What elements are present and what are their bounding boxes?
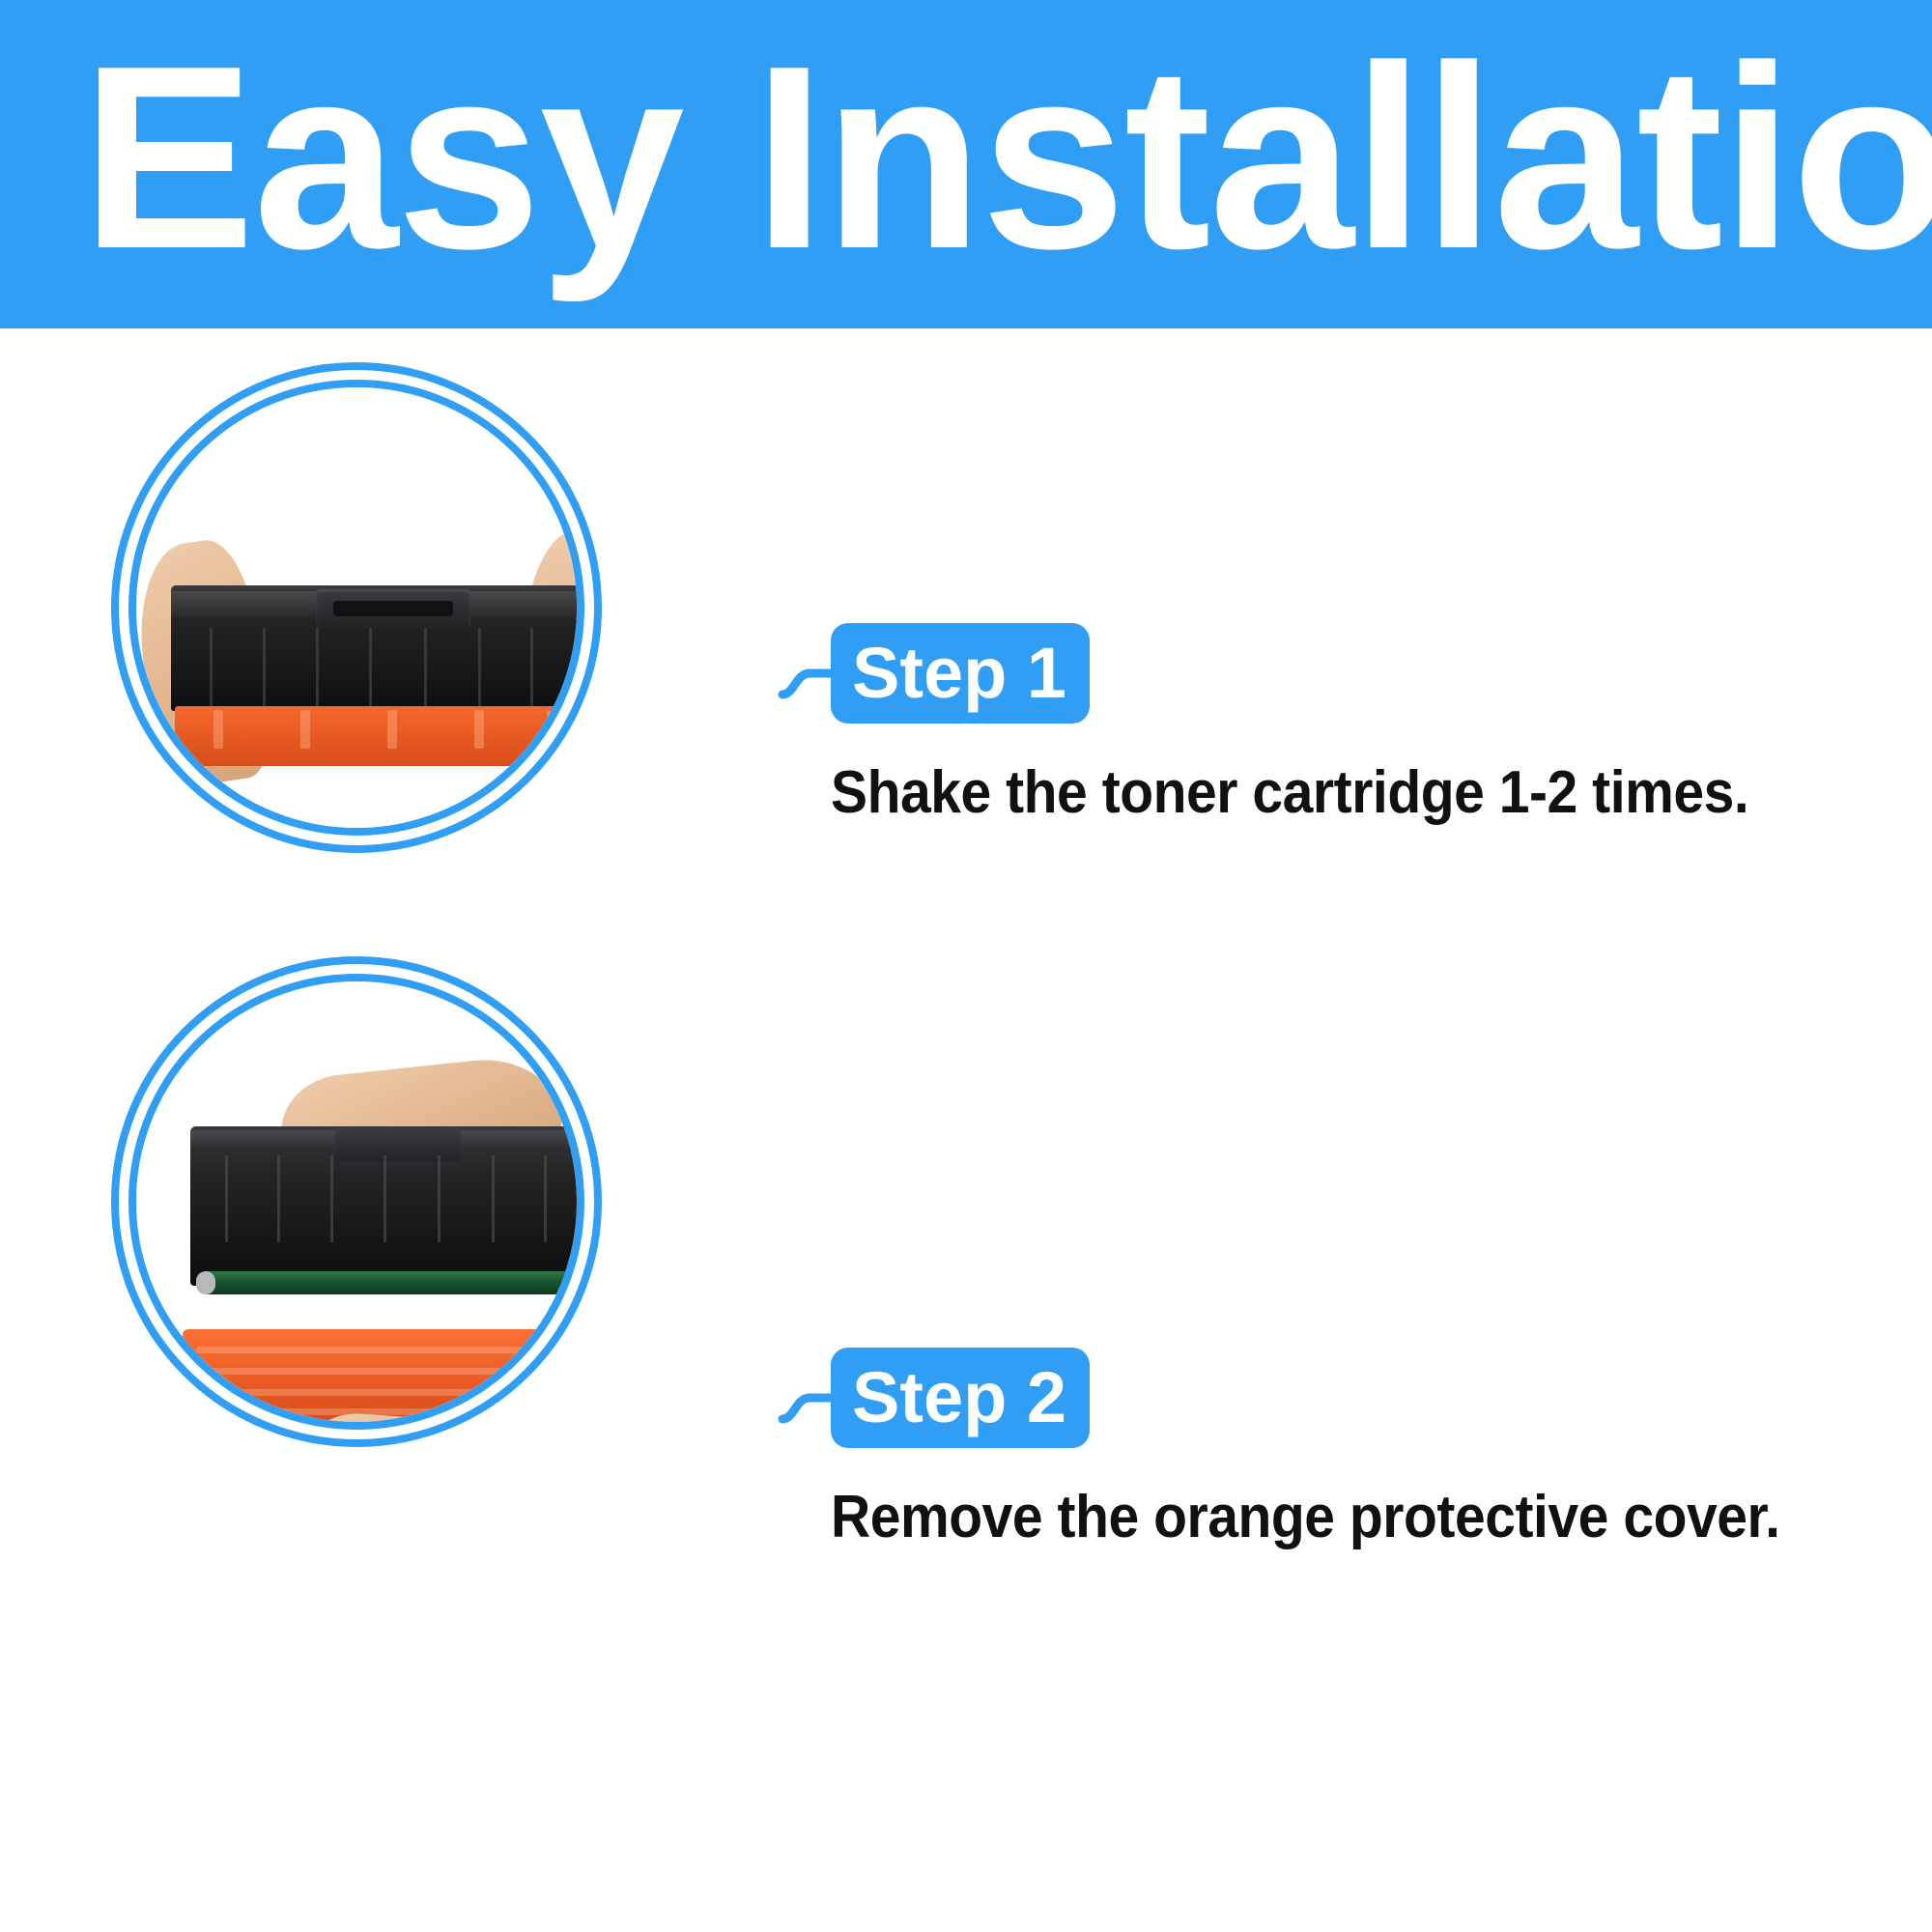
drum-end-cap-left	[196, 1271, 215, 1294]
step-2-description: Remove the orange protective cover.	[831, 1483, 1826, 1551]
step-2-photo	[136, 981, 577, 1422]
cover-groove	[196, 1347, 577, 1353]
cartridge-rib	[424, 628, 427, 711]
toner-cartridge-icon	[171, 585, 577, 711]
step-1-badge: Step 1	[831, 623, 1090, 724]
cartridge-rib	[210, 628, 213, 711]
cartridge-rib	[277, 1155, 280, 1242]
orange-protective-cover-icon	[183, 1329, 577, 1422]
drum-roller-icon	[196, 1271, 577, 1294]
step-2-badge-wrap: Step 2	[831, 1348, 1090, 1448]
cartridge-rib	[384, 1155, 386, 1242]
cartridge-rib	[330, 1155, 333, 1242]
cartridge-rib	[544, 1155, 547, 1242]
cover-groove	[196, 1368, 577, 1375]
step-block-2: Step 2 Remove the orange protective cove…	[0, 942, 1932, 1463]
step-2-badge: Step 2	[831, 1348, 1090, 1448]
cartridge-rib	[492, 1155, 495, 1242]
drum-end-cap-right	[571, 1271, 577, 1294]
cover-tab	[213, 710, 223, 749]
cover-tab	[547, 710, 556, 749]
cartridge-rib	[225, 1155, 228, 1242]
header-banner: Easy Installation	[0, 0, 1932, 328]
badge-connector-icon	[781, 650, 835, 696]
cartridge-rib	[369, 628, 372, 711]
cartridge-rib	[316, 628, 319, 711]
cover-tab	[474, 710, 484, 749]
step-1-text-column: Step 1 Shake the toner cartridge 1-2 tim…	[831, 623, 1913, 827]
cartridge-ribs	[171, 628, 577, 711]
cartridge-rib	[478, 628, 481, 711]
step-2-text-column: Step 2 Remove the orange protective cove…	[831, 1348, 1913, 1551]
cartridge-rib	[263, 628, 266, 711]
toner-cartridge-icon	[190, 1126, 577, 1286]
cover-tab	[387, 710, 397, 749]
cartridge-handle	[316, 589, 470, 628]
cover-groove	[196, 1408, 577, 1415]
step-1-badge-wrap: Step 1	[831, 623, 1090, 724]
step-2-photo-circle	[111, 956, 602, 1447]
step-1-photo-circle	[111, 362, 602, 853]
cartridge-handle-groove	[333, 601, 453, 616]
step-1-photo	[136, 387, 577, 828]
cover-tab	[300, 710, 310, 749]
step-1-description: Shake the toner cartridge 1-2 times.	[831, 758, 1826, 827]
cartridge-rib	[438, 1155, 440, 1242]
cartridge-ribs	[190, 1155, 577, 1242]
cartridge-rib	[530, 628, 533, 711]
step-block-1: Step 1 Shake the toner cartridge 1-2 tim…	[0, 348, 1932, 869]
cover-groove	[196, 1389, 577, 1396]
page-title: Easy Installation	[81, 0, 1932, 323]
orange-protective-cover-icon	[175, 706, 577, 766]
badge-connector-icon	[781, 1375, 835, 1421]
